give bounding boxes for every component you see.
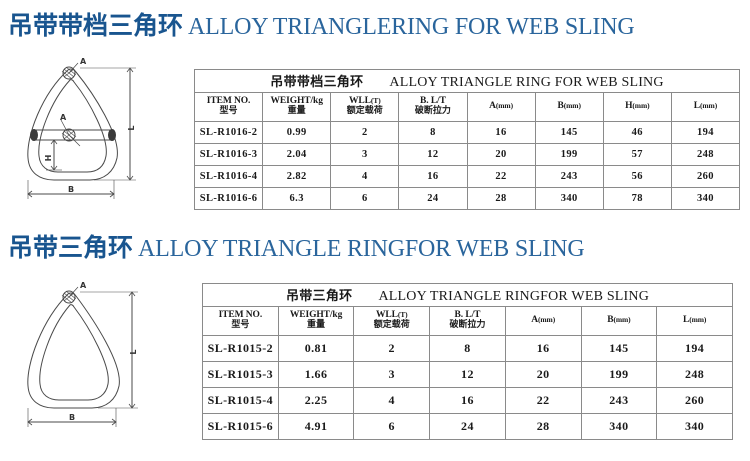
cell-b: 199 bbox=[581, 362, 657, 388]
table-2-title-cell: 吊带三角环ALLOY TRIANGLE RINGFOR WEB SLING bbox=[203, 284, 733, 307]
table-2-col-b: B(mm) bbox=[581, 307, 657, 336]
table-1-col-l: L(mm) bbox=[671, 93, 739, 122]
table-row: SL-R1016-3 2.04 3 12 20 199 57 248 bbox=[195, 144, 740, 166]
section-2-heading: 吊带三角环ALLOY TRIANGLE RINGFOR WEB SLING bbox=[8, 228, 585, 264]
cell-a: 28 bbox=[467, 188, 535, 210]
drawing-1-label-b: B bbox=[68, 185, 74, 194]
cell-weight: 4.91 bbox=[278, 414, 354, 440]
col-en: A(mm) bbox=[468, 102, 535, 112]
cell-l: 248 bbox=[657, 362, 733, 388]
table-1-header-row: ITEM NO. 型号 WEIGHT/kg 重量 WLL(T) 额定载荷 B. … bbox=[195, 93, 740, 122]
cell-l: 260 bbox=[657, 388, 733, 414]
cell-weight: 6.3 bbox=[263, 188, 331, 210]
cell-wll: 6 bbox=[354, 414, 430, 440]
cell-bl: 24 bbox=[399, 188, 467, 210]
table-1-col-bl: B. L/T 破断拉力 bbox=[399, 93, 467, 122]
col-en-sub: (mm) bbox=[538, 315, 555, 324]
cell-bl: 8 bbox=[399, 122, 467, 144]
cell-wll: 3 bbox=[331, 144, 399, 166]
table-1-title-cell: 吊带带档三角环ALLOY TRIANGLE RING FOR WEB SLING bbox=[195, 70, 740, 93]
cell-item-no: SL-R1015-3 bbox=[203, 362, 279, 388]
col-en: H(mm) bbox=[604, 102, 671, 112]
table-2-title-en: ALLOY TRIANGLE RINGFOR WEB SLING bbox=[378, 289, 649, 304]
section-2-heading-en: ALLOY TRIANGLE RINGFOR WEB SLING bbox=[133, 236, 584, 262]
col-cn: 额定载荷 bbox=[331, 107, 398, 116]
table-2-col-bl: B. L/T 破断拉力 bbox=[430, 307, 506, 336]
col-en-main: A bbox=[531, 315, 538, 325]
cell-item-no: SL-R1015-2 bbox=[203, 336, 279, 362]
cell-h: 56 bbox=[603, 166, 671, 188]
col-en-sub: (mm) bbox=[632, 101, 649, 110]
drawing-1-label-h: H bbox=[44, 155, 53, 162]
col-en-main: WLL bbox=[376, 310, 398, 320]
section-1-heading-cn: 吊带带档三角环 bbox=[8, 11, 183, 40]
col-cn: 破断拉力 bbox=[399, 107, 466, 116]
table-2-col-weight: WEIGHT/kg 重量 bbox=[278, 307, 354, 336]
cell-l: 194 bbox=[671, 122, 739, 144]
cell-l: 340 bbox=[671, 188, 739, 210]
table-row: SL-R1015-3 1.66 3 12 20 199 248 bbox=[203, 362, 733, 388]
col-en-sub: (mm) bbox=[700, 101, 717, 110]
spec-table-triangle-ring: 吊带三角环ALLOY TRIANGLE RINGFOR WEB SLING IT… bbox=[202, 283, 733, 440]
cell-wll: 3 bbox=[354, 362, 430, 388]
cell-item-no: SL-R1016-3 bbox=[195, 144, 263, 166]
table-1-col-b: B(mm) bbox=[535, 93, 603, 122]
alloy-triangle-ring-with-bar-drawing: A A L B H bbox=[18, 58, 188, 213]
table-row: SL-R1015-6 4.91 6 24 28 340 340 bbox=[203, 414, 733, 440]
table-1-title-cn: 吊带带档三角环 bbox=[270, 75, 389, 90]
col-cn: 重量 bbox=[263, 107, 330, 116]
table-1-col-item-no: ITEM NO. 型号 bbox=[195, 93, 263, 122]
cell-wll: 2 bbox=[331, 122, 399, 144]
col-en-main: WLL bbox=[349, 96, 371, 106]
col-cn: 额定载荷 bbox=[354, 321, 429, 330]
cell-bl: 16 bbox=[430, 388, 506, 414]
table-row: SL-R1016-6 6.3 6 24 28 340 78 340 bbox=[195, 188, 740, 210]
cell-l: 194 bbox=[657, 336, 733, 362]
cell-bl: 12 bbox=[430, 362, 506, 388]
cell-l: 340 bbox=[657, 414, 733, 440]
cell-a: 16 bbox=[467, 122, 535, 144]
cell-weight: 0.99 bbox=[263, 122, 331, 144]
cell-a: 20 bbox=[505, 362, 581, 388]
col-en-sub: (mm) bbox=[496, 101, 513, 110]
drawing-1-label-a2: A bbox=[60, 113, 67, 122]
col-en-sub: (T) bbox=[371, 96, 381, 105]
cell-b: 199 bbox=[535, 144, 603, 166]
cell-item-no: SL-R1015-6 bbox=[203, 414, 279, 440]
cell-wll: 4 bbox=[354, 388, 430, 414]
cell-b: 243 bbox=[581, 388, 657, 414]
cell-bl: 16 bbox=[399, 166, 467, 188]
table-1-title-en: ALLOY TRIANGLE RING FOR WEB SLING bbox=[389, 75, 663, 90]
col-en: B(mm) bbox=[582, 316, 657, 326]
section-1-heading: 吊带带档三角环ALLOY TRIANGLERING FOR WEB SLING bbox=[8, 6, 635, 42]
cell-h: 57 bbox=[603, 144, 671, 166]
cell-h: 78 bbox=[603, 188, 671, 210]
cell-wll: 6 bbox=[331, 188, 399, 210]
table-row: SL-R1016-2 0.99 2 8 16 145 46 194 bbox=[195, 122, 740, 144]
col-en-sub: (mm) bbox=[689, 315, 706, 324]
col-en-sub: (mm) bbox=[564, 101, 581, 110]
table-2-title-row: 吊带三角环ALLOY TRIANGLE RINGFOR WEB SLING bbox=[203, 284, 733, 307]
cell-l: 260 bbox=[671, 166, 739, 188]
cell-bl: 24 bbox=[430, 414, 506, 440]
cell-weight: 2.82 bbox=[263, 166, 331, 188]
col-en: L(mm) bbox=[657, 316, 732, 326]
table-2-col-wll: WLL(T) 额定载荷 bbox=[354, 307, 430, 336]
cell-item-no: SL-R1016-4 bbox=[195, 166, 263, 188]
cell-b: 243 bbox=[535, 166, 603, 188]
table-2-col-l: L(mm) bbox=[657, 307, 733, 336]
cell-weight: 0.81 bbox=[278, 336, 354, 362]
drawing-2-label-l: L bbox=[129, 349, 138, 354]
col-cn: 重量 bbox=[279, 321, 354, 330]
cell-b: 340 bbox=[581, 414, 657, 440]
table-1-col-wll: WLL(T) 额定载荷 bbox=[331, 93, 399, 122]
table-row: SL-R1016-4 2.82 4 16 22 243 56 260 bbox=[195, 166, 740, 188]
drawing-1-label-l: L bbox=[127, 125, 136, 130]
table-2-col-item-no: ITEM NO. 型号 bbox=[203, 307, 279, 336]
col-en-main: A bbox=[489, 101, 496, 111]
drawing-1-label-a: A bbox=[80, 58, 87, 66]
table-1-title-row: 吊带带档三角环ALLOY TRIANGLE RING FOR WEB SLING bbox=[195, 70, 740, 93]
table-2-col-a: A(mm) bbox=[505, 307, 581, 336]
cell-item-no: SL-R1015-4 bbox=[203, 388, 279, 414]
cell-b: 145 bbox=[581, 336, 657, 362]
spec-table-triangle-ring-with-bar: 吊带带档三角环ALLOY TRIANGLE RING FOR WEB SLING… bbox=[194, 69, 740, 210]
cell-weight: 2.25 bbox=[278, 388, 354, 414]
cell-a: 22 bbox=[467, 166, 535, 188]
col-en-sub: (mm) bbox=[613, 315, 630, 324]
section-1-heading-en: ALLOY TRIANGLERING FOR WEB SLING bbox=[183, 14, 634, 40]
table-row: SL-R1015-4 2.25 4 16 22 243 260 bbox=[203, 388, 733, 414]
table-1-col-a: A(mm) bbox=[467, 93, 535, 122]
cell-a: 28 bbox=[505, 414, 581, 440]
cell-a: 22 bbox=[505, 388, 581, 414]
cell-wll: 2 bbox=[354, 336, 430, 362]
col-en: A(mm) bbox=[506, 316, 581, 326]
cell-b: 340 bbox=[535, 188, 603, 210]
col-en: L(mm) bbox=[672, 102, 739, 112]
cell-a: 20 bbox=[467, 144, 535, 166]
table-2-title-cn: 吊带三角环 bbox=[286, 289, 379, 304]
cell-a: 16 bbox=[505, 336, 581, 362]
col-en-sub: (T) bbox=[398, 310, 408, 319]
alloy-triangle-ring-drawing: A L B bbox=[18, 282, 193, 442]
cell-weight: 1.66 bbox=[278, 362, 354, 388]
cell-l: 248 bbox=[671, 144, 739, 166]
table-row: SL-R1015-2 0.81 2 8 16 145 194 bbox=[203, 336, 733, 362]
cell-item-no: SL-R1016-6 bbox=[195, 188, 263, 210]
col-cn: 型号 bbox=[203, 321, 278, 330]
table-1-col-h: H(mm) bbox=[603, 93, 671, 122]
table-2-header-row: ITEM NO. 型号 WEIGHT/kg 重量 WLL(T) 额定载荷 B. … bbox=[203, 307, 733, 336]
cell-h: 46 bbox=[603, 122, 671, 144]
drawing-2-label-b: B bbox=[69, 413, 75, 422]
cell-b: 145 bbox=[535, 122, 603, 144]
col-en: B(mm) bbox=[536, 102, 603, 112]
cell-item-no: SL-R1016-2 bbox=[195, 122, 263, 144]
cell-weight: 2.04 bbox=[263, 144, 331, 166]
drawing-2-label-a: A bbox=[80, 282, 87, 290]
cell-wll: 4 bbox=[331, 166, 399, 188]
col-cn: 破断拉力 bbox=[430, 321, 505, 330]
table-1-col-weight: WEIGHT/kg 重量 bbox=[263, 93, 331, 122]
col-cn: 型号 bbox=[195, 107, 262, 116]
cell-bl: 12 bbox=[399, 144, 467, 166]
section-2-heading-cn: 吊带三角环 bbox=[8, 233, 133, 262]
cell-bl: 8 bbox=[430, 336, 506, 362]
